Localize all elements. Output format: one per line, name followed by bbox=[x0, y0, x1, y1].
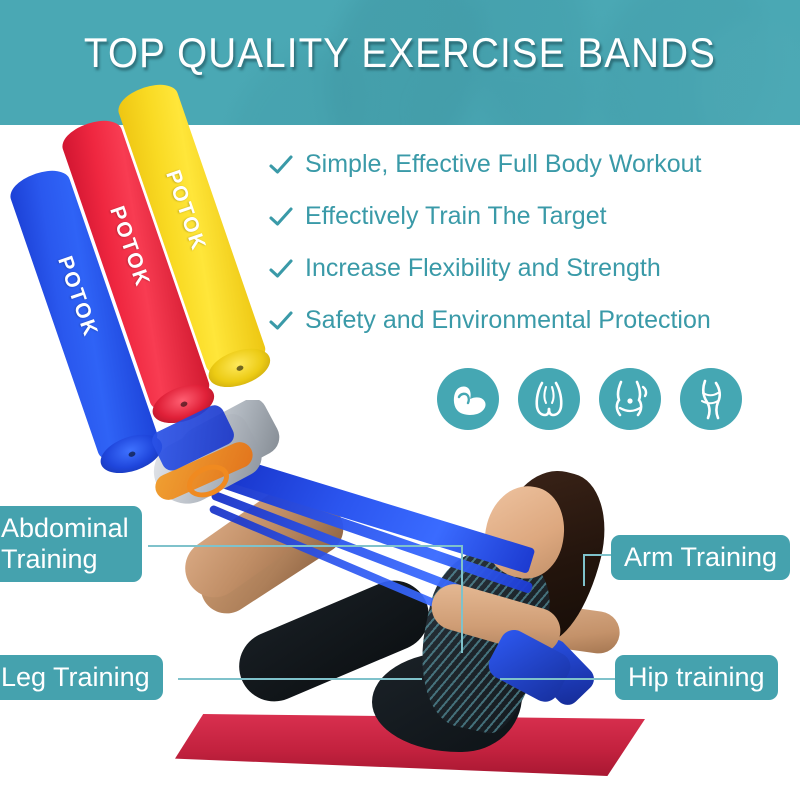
feature-label: Effectively Train The Target bbox=[305, 202, 607, 231]
check-icon bbox=[268, 204, 294, 230]
connector-abdominal-drop bbox=[461, 545, 463, 653]
feature-item: Safety and Environmental Protection bbox=[268, 294, 788, 346]
connector-leg bbox=[178, 678, 422, 680]
check-icon bbox=[268, 256, 294, 282]
callout-hip-training[interactable]: Hip training bbox=[615, 655, 778, 700]
callout-arm-training[interactable]: Arm Training bbox=[611, 535, 790, 580]
product-infographic: TOP QUALITY EXERCISE BANDS POTOK POTOK P… bbox=[0, 0, 800, 800]
check-icon bbox=[268, 308, 294, 334]
feature-list: Simple, Effective Full Body Workout Effe… bbox=[268, 138, 788, 346]
feature-label: Increase Flexibility and Strength bbox=[305, 254, 661, 283]
feature-item: Effectively Train The Target bbox=[268, 190, 788, 242]
connector-abdominal bbox=[148, 545, 462, 547]
connector-arm-drop bbox=[583, 554, 585, 586]
feature-label: Safety and Environmental Protection bbox=[305, 306, 711, 335]
product-bands-image: POTOK POTOK POTOK bbox=[0, 62, 264, 382]
connector-hip bbox=[500, 678, 618, 680]
check-icon bbox=[268, 152, 294, 178]
feature-label: Simple, Effective Full Body Workout bbox=[305, 150, 701, 179]
callout-leg-training[interactable]: Leg Training bbox=[0, 655, 163, 700]
callout-abdominal-training[interactable]: Abdominal Training bbox=[0, 506, 142, 582]
feature-item: Simple, Effective Full Body Workout bbox=[268, 138, 788, 190]
feature-item: Increase Flexibility and Strength bbox=[268, 242, 788, 294]
